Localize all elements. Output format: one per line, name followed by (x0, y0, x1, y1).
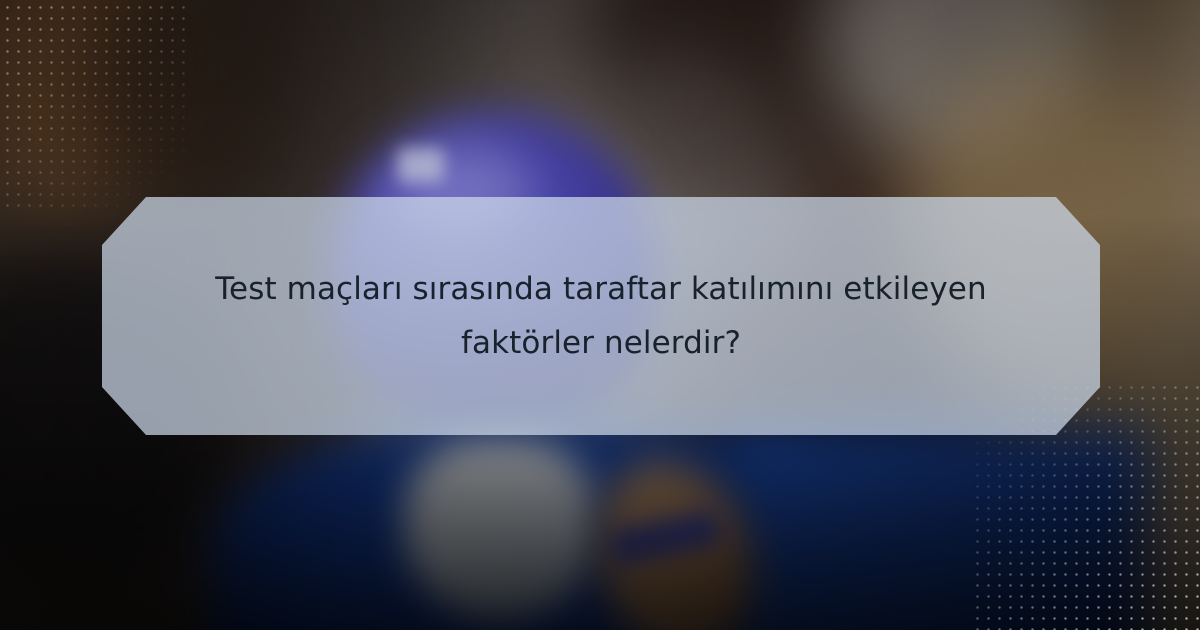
question-text: Test maçları sırasında taraftar katılımı… (212, 262, 990, 370)
dot-grid-top-left (0, 0, 190, 210)
blue-jersey-shoulder (730, 430, 1150, 630)
jersey-collar (405, 440, 595, 620)
social-share-card: Test maçları sırasında taraftar katılımı… (0, 0, 1200, 630)
blue-cap-logo (398, 148, 444, 182)
question-card: Test maçları sırasında taraftar katılımı… (102, 197, 1100, 435)
